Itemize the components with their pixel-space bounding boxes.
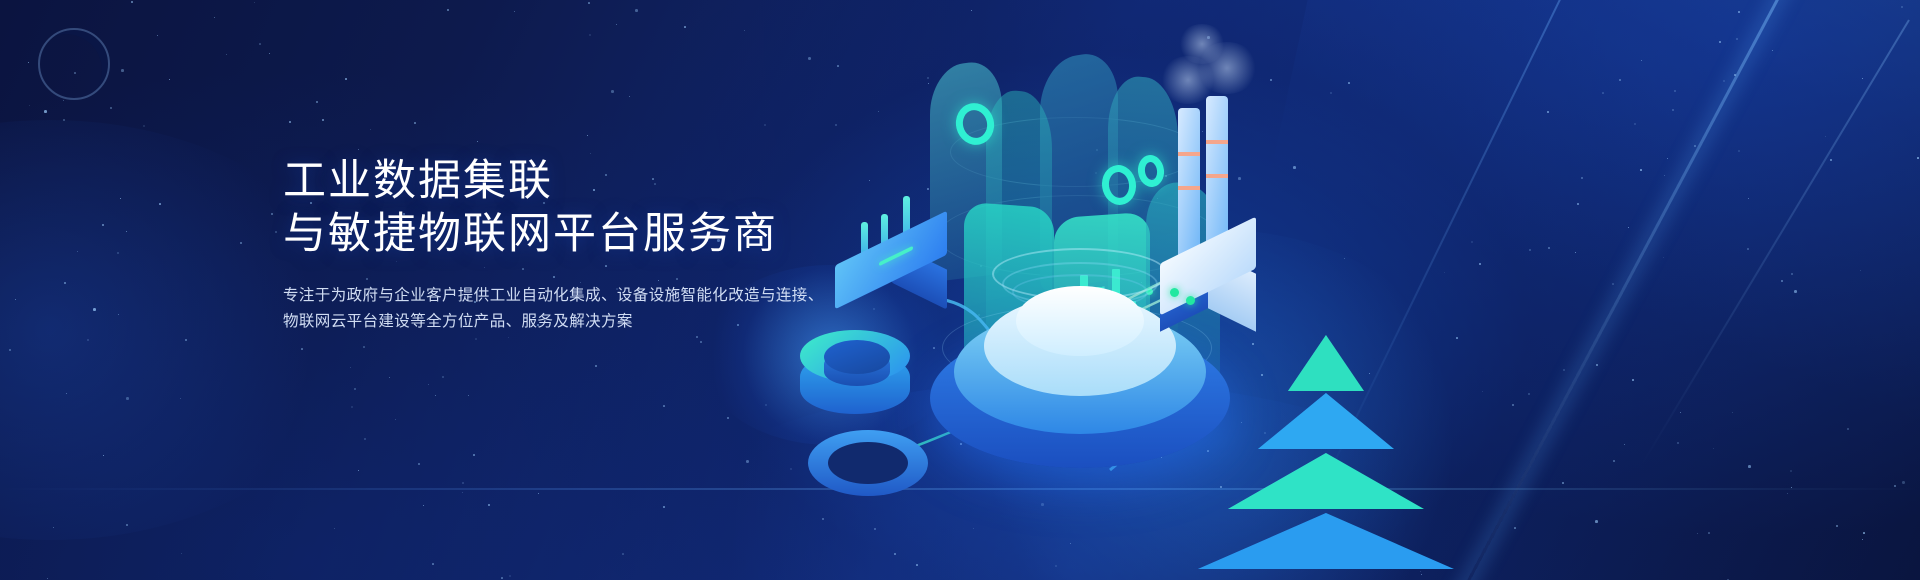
isometric-illustration (780, 0, 1920, 580)
factory-led (1170, 288, 1179, 297)
stack-band (1178, 186, 1200, 190)
stack-band (1206, 140, 1228, 144)
wifi-router-graphic (835, 200, 955, 310)
ground-ring (808, 430, 928, 500)
moon-arc-icon (38, 28, 110, 100)
pyramid-layer (1198, 513, 1454, 569)
layered-pyramid (1210, 335, 1440, 575)
pyramid-layer (1288, 335, 1364, 391)
pyramid-layer (1258, 393, 1394, 449)
smoke-puff (1178, 24, 1226, 64)
stack-band (1206, 174, 1228, 178)
pyramid-layer (1228, 453, 1424, 509)
hub-disc-core (1016, 286, 1144, 356)
cylinder-cut (824, 340, 890, 374)
factory-led (1186, 296, 1195, 305)
smokestack-factory (1150, 90, 1310, 330)
stack-band (1178, 152, 1200, 156)
hero-banner: 工业数据集联 与敏捷物联网平台服务商 专注于为政府与企业客户提供工业自动化集成、… (0, 0, 1920, 580)
smokestack (1178, 108, 1200, 258)
ground-ring-inner (828, 442, 908, 484)
cylinder-widget (800, 330, 910, 440)
